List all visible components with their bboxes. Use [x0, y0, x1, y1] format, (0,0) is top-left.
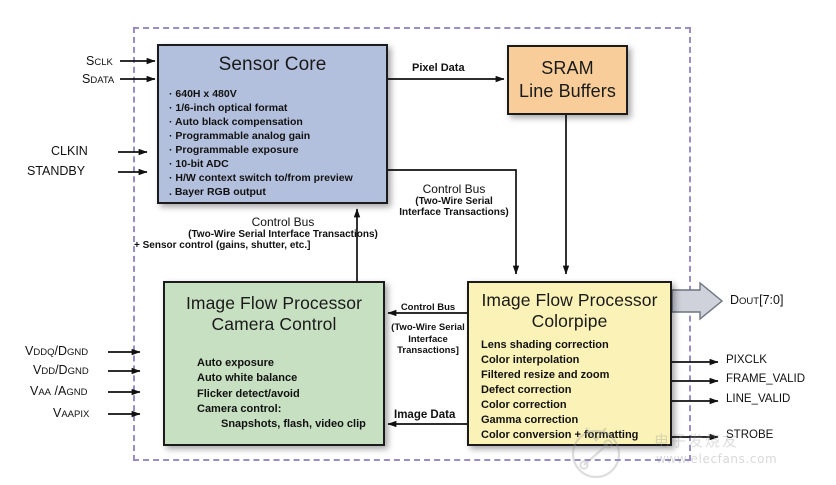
camera-control-title-line1: Image Flow Processor: [165, 293, 383, 314]
block-sensor-core[interactable]: Sensor Core · 640H x 480V · 1/6-inch opt…: [157, 44, 388, 204]
colorpipe-title-line1: Image Flow Processor: [469, 290, 670, 311]
sram-title-line1: SRAM: [509, 57, 626, 80]
sensor-control-bus-line2: (Two-Wire Serial Interface Transactions): [128, 229, 438, 240]
pin-label-dout: DOUT[7:0]: [730, 293, 783, 307]
pin-label-frame-valid: FRAME_VALID: [726, 373, 805, 385]
pin-label-vddq-dgnd: VDDQ/DGND: [25, 344, 88, 358]
camera-control-feature: Camera control:: [197, 402, 383, 417]
label-middle-control-bus: Control Bus (Two-Wire Serial Interface T…: [398, 182, 510, 218]
ifp-control-bus-line2: (Two-Wire Serial: [390, 322, 466, 333]
diagram-canvas: Sensor Core · 640H x 480V · 1/6-inch opt…: [0, 0, 836, 484]
camera-control-feature-sub: Snapshots, flash, video clip: [197, 417, 383, 432]
colorpipe-feature: Gamma correction: [481, 413, 670, 428]
pin-label-vaa-agnd: VAA /AGND: [30, 384, 87, 398]
label-sensor-control-bus: Control Bus (Two-Wire Serial Interface T…: [128, 215, 438, 251]
camera-control-feature: Auto white balance: [197, 371, 383, 386]
sensor-core-title: Sensor Core: [159, 46, 386, 76]
colorpipe-feature: Lens shading correction: [481, 338, 670, 353]
block-sram-line-buffers[interactable]: SRAM Line Buffers: [507, 45, 628, 115]
camera-control-feature: Flicker detect/avoid: [197, 387, 383, 402]
sensor-core-feature: · 10-bit ADC: [169, 157, 386, 171]
pin-label-line-valid: LINE_VALID: [726, 393, 790, 405]
camera-control-title: Image Flow Processor Camera Control: [165, 283, 383, 334]
pin-label-strobe: STROBE: [726, 429, 773, 441]
sram-title-line2: Line Buffers: [509, 80, 626, 103]
ifp-control-bus-line4: Transactions]: [390, 345, 466, 356]
pin-label-vaapix: VAAPIX: [53, 406, 89, 420]
colorpipe-feature: Color correction: [481, 398, 670, 413]
sensor-core-feature: · H/W context switch to/from preview: [169, 171, 386, 185]
sensor-core-feature: . Bayer RGB output: [169, 185, 386, 199]
colorpipe-feature: Filtered resize and zoom: [481, 368, 670, 383]
sensor-core-feature: · 1/6-inch optical format: [169, 101, 386, 115]
pin-label-pixclk: PIXCLK: [726, 354, 767, 366]
pin-label-sdata: SDATA: [82, 72, 114, 86]
colorpipe-feature: Color interpolation: [481, 353, 670, 368]
sensor-core-feature: · Programmable analog gain: [169, 129, 386, 143]
ifp-control-bus-line1: Control Bus: [390, 302, 466, 313]
middle-control-bus-line3: Interface Transactions): [398, 207, 510, 218]
sram-title: SRAM Line Buffers: [509, 47, 626, 103]
pin-label-vdd-dgnd: VDD/DGND: [33, 363, 89, 377]
colorpipe-feature: Color conversion + formatting: [481, 428, 670, 443]
middle-control-bus-line1: Control Bus: [398, 182, 510, 196]
label-image-data: Image Data: [394, 409, 455, 421]
ifp-control-bus-line3: Interface: [390, 334, 466, 345]
camera-control-feature: Auto exposure: [197, 356, 383, 371]
sensor-control-bus-line3: + Sensor control (gains, shutter, etc.]: [128, 240, 438, 251]
sensor-core-feature: · 640H x 480V: [169, 87, 386, 101]
colorpipe-title-line2: Colorpipe: [469, 311, 670, 332]
sensor-core-feature: · Programmable exposure: [169, 143, 386, 157]
label-ifp-control-bus: Control Bus (Two-Wire Serial Interface T…: [390, 302, 466, 357]
pin-label-sclk: SCLK: [86, 54, 113, 68]
pin-label-standby: STANDBY: [27, 164, 85, 178]
label-pixel-data: Pixel Data: [412, 62, 465, 74]
colorpipe-feature: Defect correction: [481, 383, 670, 398]
sensor-core-features: · 640H x 480V · 1/6-inch optical format …: [169, 87, 386, 200]
block-ifp-camera-control[interactable]: Image Flow Processor Camera Control Auto…: [163, 281, 385, 446]
colorpipe-title: Image Flow Processor Colorpipe: [469, 283, 670, 331]
sensor-control-bus-line1: Control Bus: [128, 215, 438, 229]
middle-control-bus-line2: (Two-Wire Serial: [398, 196, 510, 207]
pin-label-clkin: CLKIN: [51, 144, 88, 158]
sensor-core-feature: · Auto black compensation: [169, 115, 386, 129]
colorpipe-features: Lens shading correction Color interpolat…: [481, 338, 670, 442]
block-ifp-colorpipe[interactable]: Image Flow Processor Colorpipe Lens shad…: [467, 281, 672, 446]
camera-control-features: Auto exposure Auto white balance Flicker…: [197, 356, 383, 432]
camera-control-title-line2: Camera Control: [165, 314, 383, 335]
